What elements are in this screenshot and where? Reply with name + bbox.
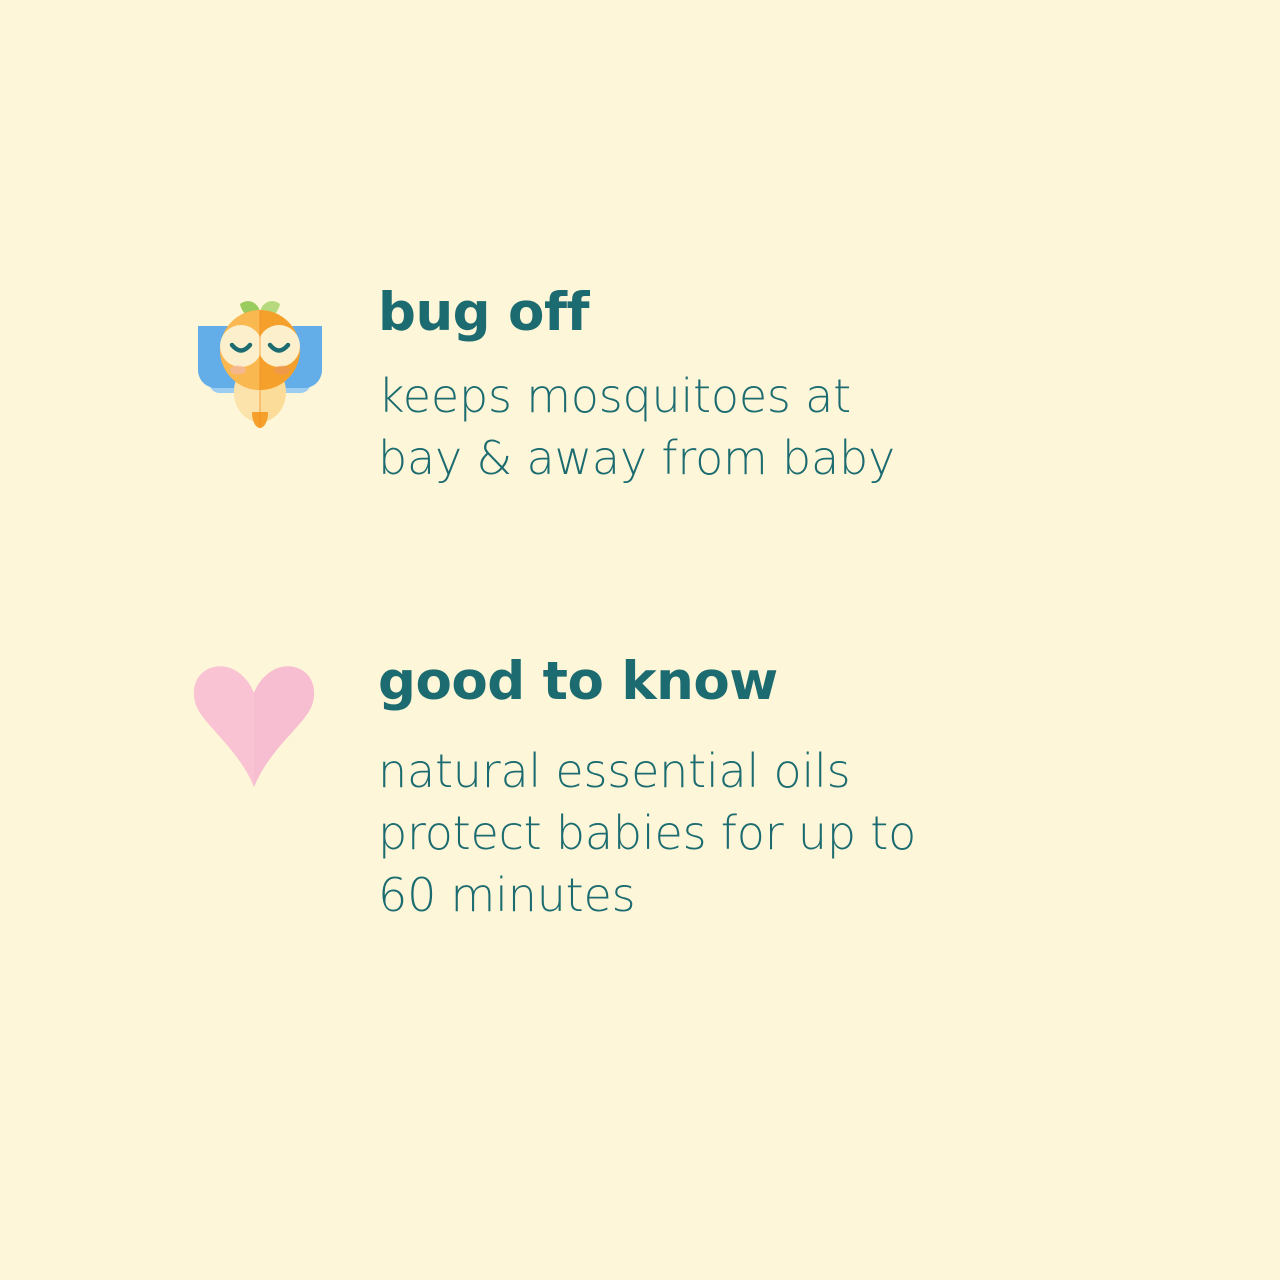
- feature-text-slot: bug off keeps mosquitoes at bay & away f…: [378, 286, 895, 489]
- heart-icon: [190, 657, 318, 787]
- product-benefits-panel: bug off keeps mosquitoes at bay & away f…: [0, 0, 1280, 1280]
- feature-body-bug-off: keeps mosquitoes at bay & away from baby: [378, 365, 895, 489]
- feature-icon-slot: [190, 286, 340, 428]
- feature-text-slot: good to know natural essential oils prot…: [378, 655, 916, 926]
- bug-icon: [190, 288, 330, 428]
- feature-block-good-to-know: good to know natural essential oils prot…: [190, 655, 916, 926]
- feature-body-good-to-know: natural essential oils protect babies fo…: [378, 740, 916, 926]
- feature-block-bug-off: bug off keeps mosquitoes at bay & away f…: [190, 286, 895, 489]
- feature-icon-slot: [190, 655, 340, 787]
- feature-title-good-to-know: good to know: [378, 655, 916, 708]
- feature-title-bug-off: bug off: [378, 286, 895, 339]
